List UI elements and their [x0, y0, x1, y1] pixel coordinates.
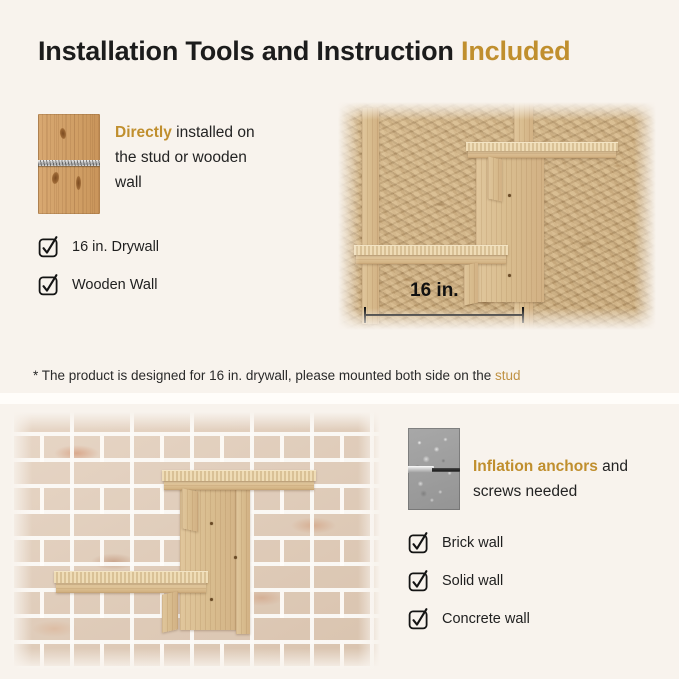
page-title: Installation Tools and Instruction Inclu…: [38, 36, 570, 67]
wood-knot-icon: [59, 128, 67, 140]
mounting-screw-icon: [210, 522, 213, 525]
top-section: Directly installed on the stud or wooden…: [0, 88, 679, 393]
upper-shelf-bracket: [488, 157, 502, 202]
anchor-bolt: [432, 468, 460, 472]
lower-shelf-surface: [54, 571, 208, 583]
lower-shelf-bracket: [162, 591, 178, 632]
mounting-screw-icon: [508, 274, 511, 277]
checklist-item-label: 16 in. Drywall: [72, 239, 159, 255]
dimension-label: 16 in.: [410, 280, 459, 302]
section-divider: [0, 393, 679, 404]
checklist-item-brick-wall[interactable]: Brick wall: [408, 532, 530, 554]
anchor-install-description: Inflation anchors and screws needed: [473, 454, 673, 504]
wood-screw-icon: [38, 160, 100, 166]
brick-wall-photo: [10, 412, 380, 670]
checklist-item-label: Wooden Wall: [72, 277, 157, 293]
lower-shelf-surface: [354, 245, 508, 255]
backplate-edge: [236, 474, 250, 634]
footnote-accent: stud: [495, 368, 521, 383]
shelf-backplate: [476, 142, 544, 302]
anchor-install-line2: screws needed: [473, 483, 577, 500]
left-stud: [362, 108, 379, 324]
checklist-item-wooden-wall[interactable]: Wooden Wall: [38, 274, 159, 296]
stud-wall-photo: 16 in.: [338, 102, 656, 330]
upper-shelf-bracket: [182, 488, 198, 531]
dimension-line: [364, 314, 524, 316]
checklist-item-label: Brick wall: [442, 535, 503, 551]
checkbox-checked-icon[interactable]: [38, 274, 60, 296]
mounting-screw-icon: [234, 556, 237, 559]
footnote-text: * The product is designed for 16 in. dry…: [33, 368, 495, 383]
stud-install-line3: wall: [115, 174, 142, 191]
anchor-install-line1-rest: and: [598, 458, 628, 475]
checkbox-checked-icon[interactable]: [408, 570, 430, 592]
upper-shelf-surface: [162, 470, 316, 481]
checkbox-checked-icon[interactable]: [38, 236, 60, 258]
checklist-item-label: Solid wall: [442, 573, 503, 589]
lower-shelf-bracket: [464, 263, 478, 306]
lower-shelf-board: [356, 254, 506, 264]
stud-install-line2: the stud or wooden: [115, 149, 247, 166]
checklist-item-solid-wall[interactable]: Solid wall: [408, 570, 530, 592]
mounting-screw-icon: [508, 194, 511, 197]
upper-shelf-surface: [466, 142, 618, 151]
stud-install-description: Directly installed on the stud or wooden…: [115, 120, 325, 195]
wood-knot-icon: [51, 172, 60, 185]
checklist-item-concrete-wall[interactable]: Concrete wall: [408, 608, 530, 630]
concrete-block-swatch: [408, 428, 460, 510]
page-title-main: Installation Tools and Instruction: [38, 36, 454, 66]
checkbox-checked-icon[interactable]: [408, 608, 430, 630]
wood-knot-icon: [76, 176, 81, 190]
inflation-anchor-icon: [408, 466, 460, 473]
checklist-item-drywall[interactable]: 16 in. Drywall: [38, 236, 159, 258]
anchor-sleeve: [408, 466, 434, 473]
top-checklist: 16 in. Drywall Wooden Wall: [38, 236, 159, 312]
wood-board-swatch: [38, 114, 100, 214]
checkbox-checked-icon[interactable]: [408, 532, 430, 554]
bottom-checklist: Brick wall Solid wall Concrete wall: [408, 532, 530, 646]
footnote: * The product is designed for 16 in. dry…: [33, 368, 521, 383]
checklist-item-label: Concrete wall: [442, 611, 530, 627]
anchor-install-accent: Inflation anchors: [473, 458, 598, 475]
stud-install-accent: Directly: [115, 124, 172, 141]
stud-install-line1-rest: installed on: [172, 124, 255, 141]
mounting-screw-icon: [210, 598, 213, 601]
bottom-section: Inflation anchors and screws needed Bric…: [0, 404, 679, 679]
page-title-accent: Included: [461, 36, 570, 66]
lower-shelf-board: [56, 582, 206, 593]
